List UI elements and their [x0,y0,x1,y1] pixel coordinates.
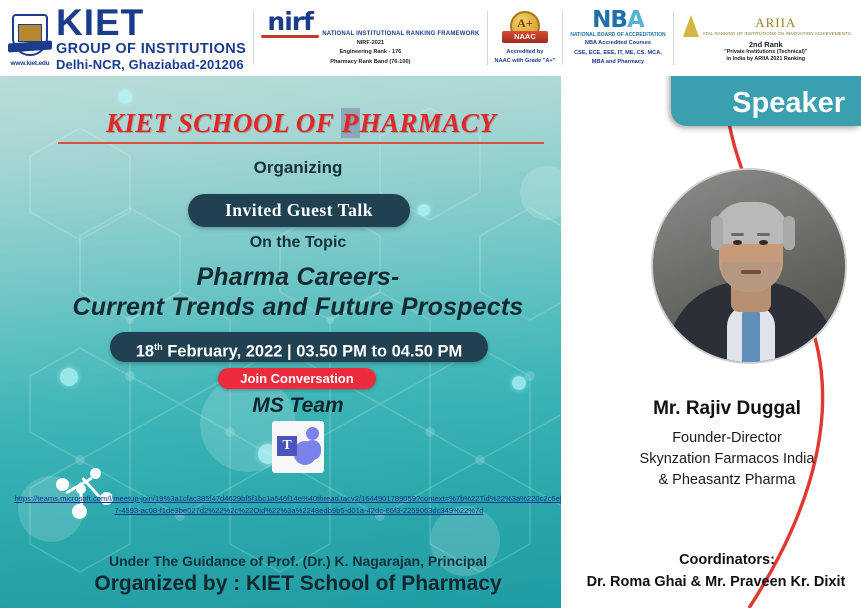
nba-fullname-label: NATIONAL BOARD OF ACCREDITATION [570,32,665,38]
naac-logo-block: A+ NAAC Accredited by NAAC with Grade "A… [495,11,556,66]
kiet-group-label: GROUP OF INSTITUTIONS [56,41,246,57]
join-conversation-button[interactable]: Join Conversation [218,368,376,389]
nba-wordmark: NBA [570,9,665,32]
topic-line-1: Pharma Careers- [0,262,596,292]
header-divider [562,11,563,65]
nba-line2: CSE, ECE, EEE, IT, ME, CS, MCA, [570,50,665,58]
speaker-org-line-2: & Pheasantz Pharma [596,470,858,491]
kiet-website-label: www.kiet.edu [6,60,54,67]
coordinators-names: Dr. Roma Ghai & Mr. Praveen Kr. Dixit [574,574,858,590]
kiet-logo-block: www.kiet.edu KIET GROUP OF INSTITUTIONS … [0,2,246,74]
school-title-highlight: P [341,108,360,138]
kiet-wordmark: KIET GROUP OF INSTITUTIONS Delhi-NCR, Gh… [56,5,246,72]
medical-cross-icon [300,84,326,110]
nirf-fullname-label: NATIONAL INSTITUTIONAL RANKING FRAMEWORK [322,31,479,38]
glow-node [512,376,526,390]
nirf-line3: Pharmacy Rank Band (76-100) [261,59,479,67]
glow-node [60,368,78,386]
date-time-badge: 18th February, 2022 | 03.50 PM to 04.50 … [110,332,488,362]
school-title-part1: KIET SCHOOL OF [106,108,341,138]
speaker-name: Mr. Rajiv Duggal [596,398,858,420]
ariia-line1: "Private Institutions (Technical)" [681,49,851,56]
on-the-topic-label: On the Topic [0,234,596,252]
nirf-logo-block: nirf NATIONAL INSTITUTIONAL RANKING FRAM… [261,10,479,67]
ariia-tagline: ATAL RANKING OF INSTITUTIONS ON INNOVATI… [703,31,851,36]
kiet-location-label: Delhi-NCR, Ghaziabad-201206 [56,57,246,72]
topic-line-2: Current Trends and Future Prospects [0,292,596,322]
nba-line3: MBA and Pharmacy [570,59,665,67]
nba-logo-block: NBA NATIONAL BOARD OF ACCREDITATION NBA … [570,9,665,67]
naac-seal-icon: A+ NAAC [502,11,548,47]
nirf-line2: Engineering Rank - 176 [261,49,479,57]
nirf-line1: NIRF-2021 [261,40,479,48]
kiet-crest-icon: www.kiet.edu [8,12,52,64]
date-suffix: th [154,342,163,352]
organizing-label: Organizing [0,158,596,178]
speaker-role: Founder-Director [596,428,858,449]
speaker-affiliation: Founder-Director Skynzation Farmacos Ind… [596,428,858,491]
coordinators-title: Coordinators: [596,552,858,568]
topic-title: Pharma Careers- Current Trends and Futur… [0,262,596,322]
ariia-mark-icon [681,14,701,38]
invited-guest-talk-badge: Invited Guest Talk [188,194,410,227]
school-title: KIET SCHOOL OF PHARMACY [66,108,536,139]
speaker-org-line-1: Skynzation Farmacos India [596,449,858,470]
speaker-avatar [651,168,847,364]
ariia-rank-label: 2nd Rank [681,40,851,49]
poster-canvas: www.kiet.edu KIET GROUP OF INSTITUTIONS … [0,0,861,608]
school-title-underline [58,142,544,144]
nirf-wordmark: nirf [261,10,319,34]
date-day: 18 [136,343,154,361]
header-divider [673,11,674,65]
naac-ribbon-label: NAAC [502,31,548,43]
kiet-name: KIET [56,5,246,41]
naac-line2: NAAC with Grade "A+" [495,58,556,66]
ariia-logo-block: ARIIA ATAL RANKING OF INSTITUTIONS ON IN… [681,14,851,63]
medical-cross-icon [390,426,436,472]
naac-line1: Accredited by [495,49,556,57]
nba-line1: NBA Accredited Courses [570,40,665,48]
date-rest: February, 2022 | 03.50 PM to 04.50 PM [163,343,463,361]
eminent-line-2: Speaker [671,82,845,124]
organized-by-label: Organized by : KIET School of Pharmacy [0,572,596,596]
ariia-wordmark: ARIIA [701,15,851,31]
ariia-line2: in India by ARIIA 2021 Ranking [681,56,851,63]
guidance-label: Under The Guidance of Prof. (Dr.) K. Nag… [0,553,596,569]
header-logo-strip: www.kiet.edu KIET GROUP OF INSTITUTIONS … [0,0,861,76]
glow-node [418,204,430,216]
naac-grade-label: A+ [510,16,540,31]
header-divider [487,11,488,65]
glow-node [118,90,132,104]
ms-team-label: MS Team [0,394,596,418]
meeting-link[interactable]: https://teams.microsoft.com/l/meetup-joi… [14,493,584,517]
ms-teams-icon[interactable]: T [272,421,324,473]
school-title-part2: HARMACY [360,108,496,138]
header-divider [253,11,254,65]
teams-icon-letter: T [277,436,297,456]
